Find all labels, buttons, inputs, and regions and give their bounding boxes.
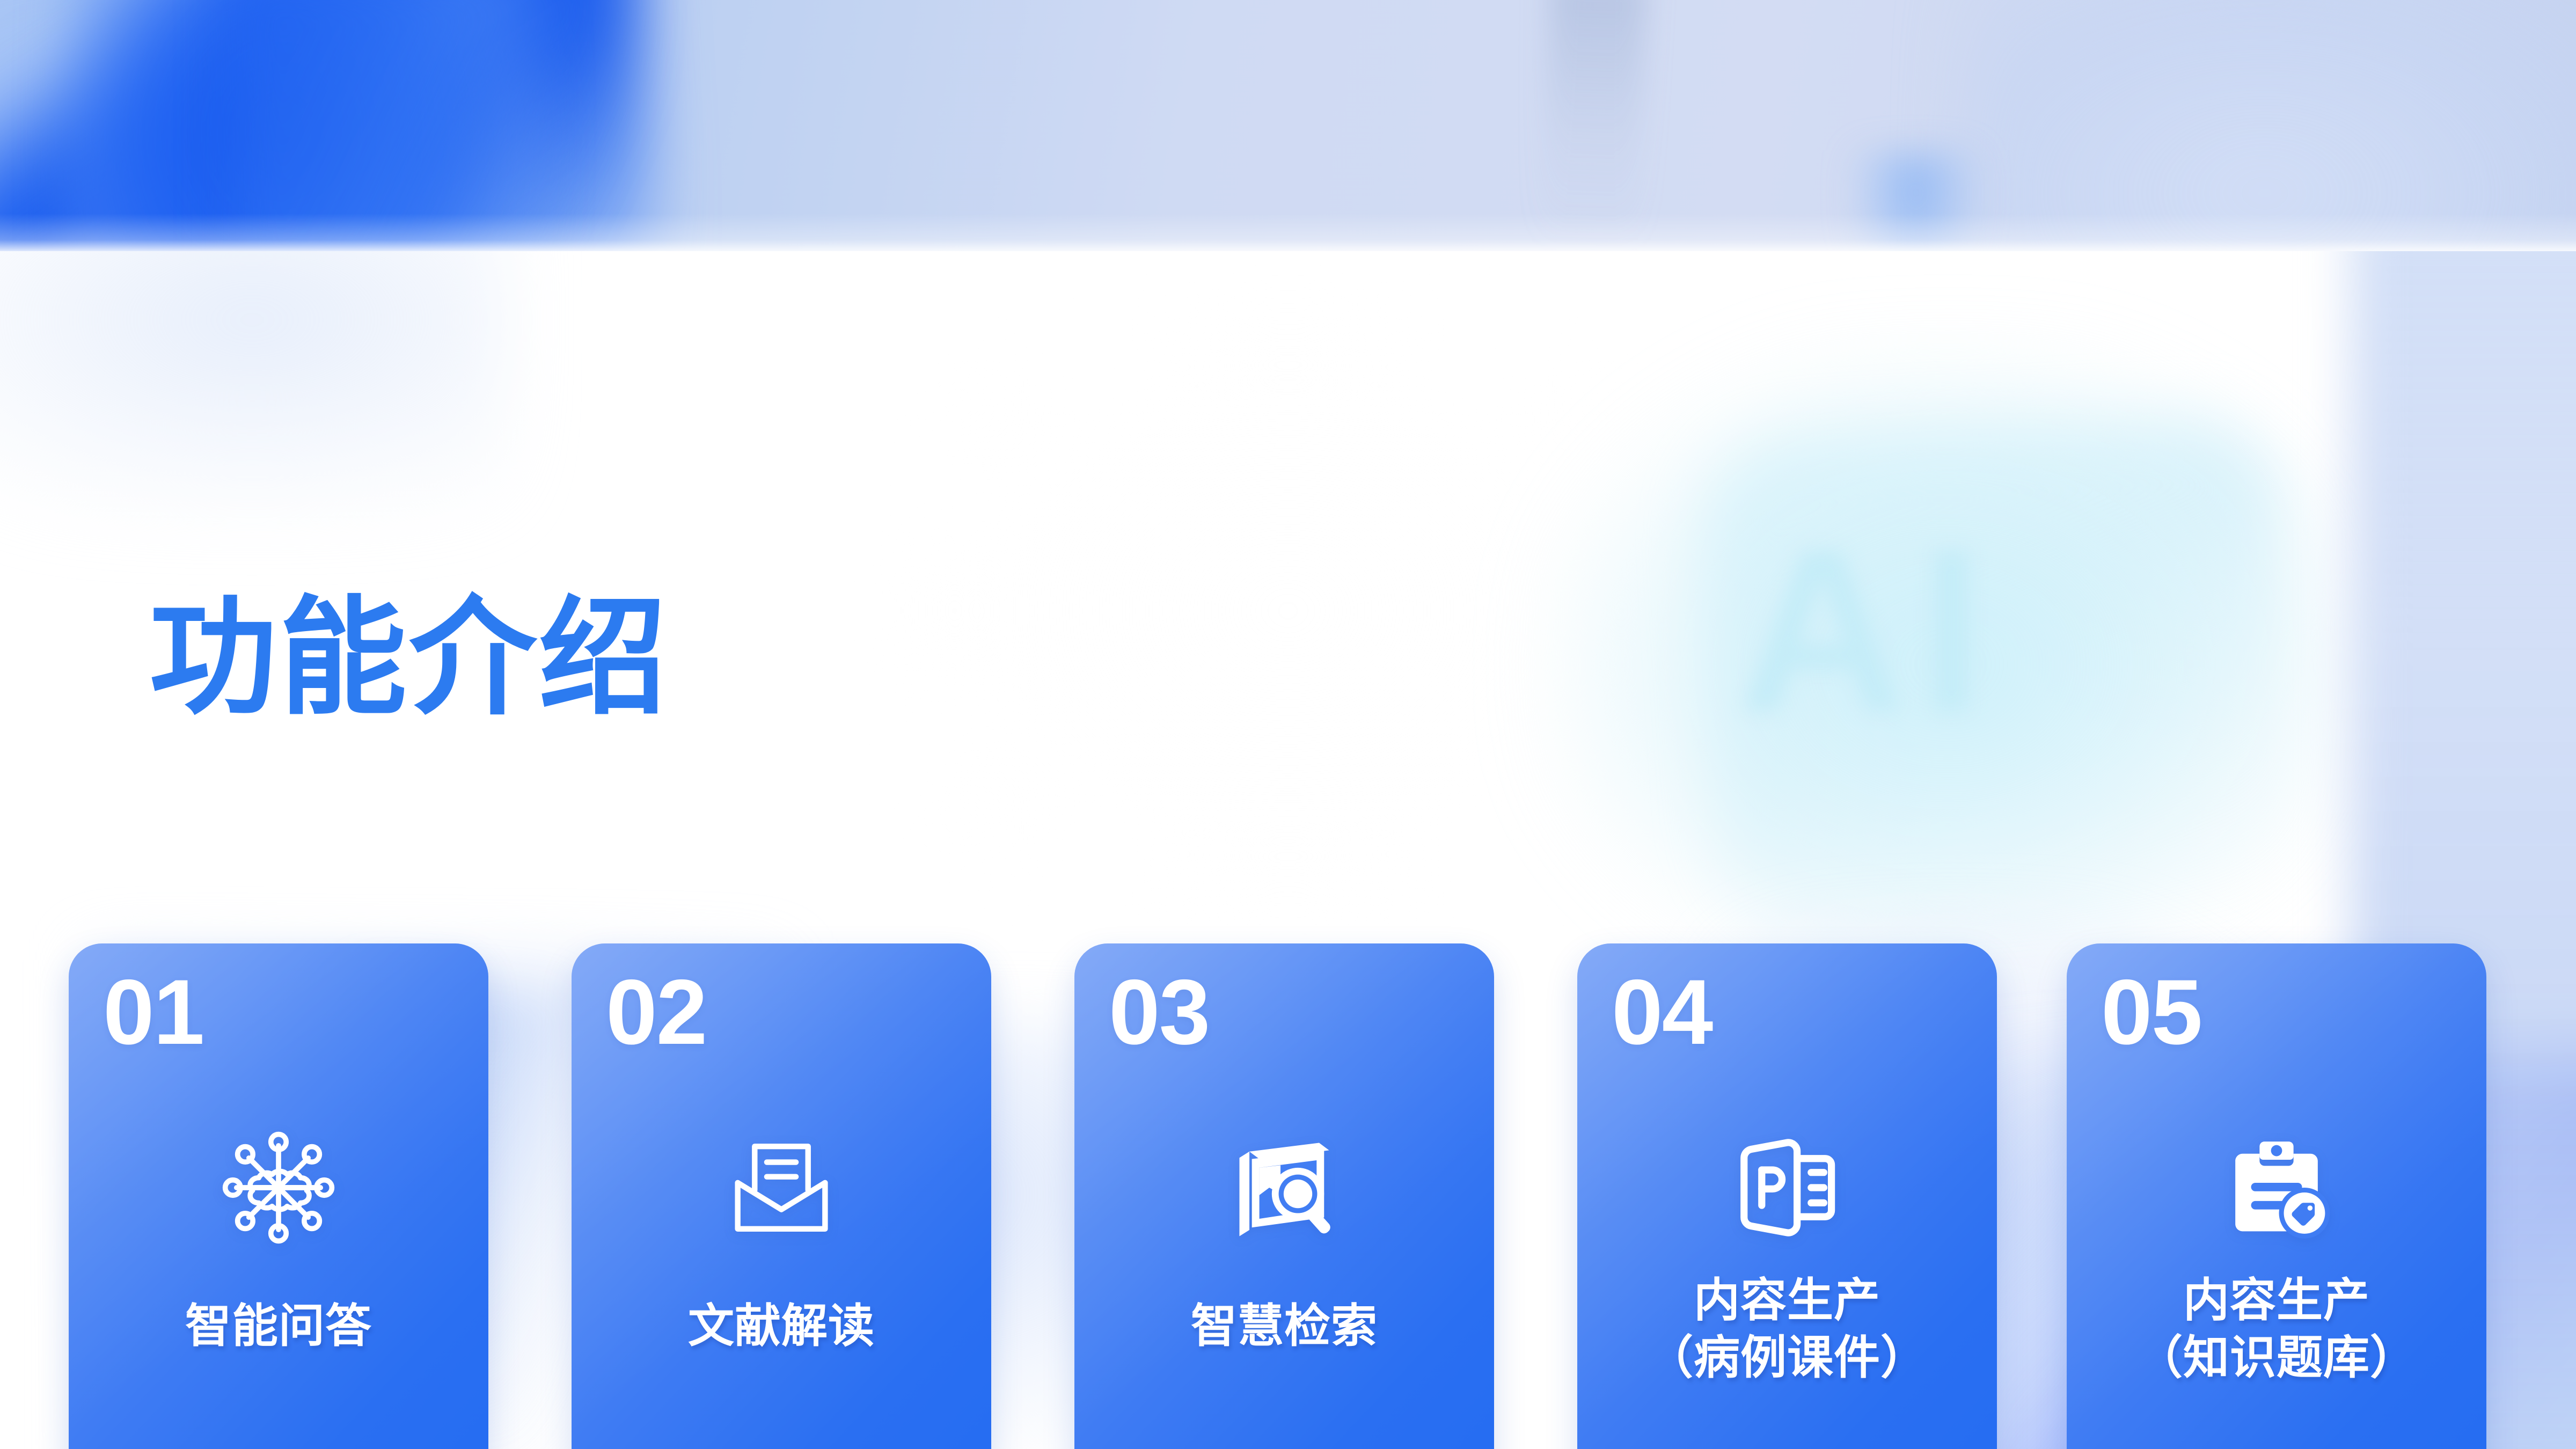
powerpoint-slide-icon <box>1577 1121 1997 1255</box>
card-label: 智慧检索 <box>1074 1298 1494 1355</box>
feature-card-03[interactable]: 03 <box>1074 943 1494 1449</box>
card-label: 智能问答 <box>69 1298 488 1355</box>
card-label-line-1: 内容生产 <box>2183 1275 2370 1326</box>
background-blob-top-left <box>0 251 510 519</box>
clipboard-tag-icon <box>2067 1121 2486 1255</box>
book-magnifier-search-icon <box>1074 1121 1494 1255</box>
feature-card-05[interactable]: 05 <box>2067 943 2486 1449</box>
card-label-line-2: （知识题库） <box>2136 1332 2417 1384</box>
card-label-line-1: 内容生产 <box>1694 1275 1880 1326</box>
ai-watermark-text: AI <box>1739 498 1997 763</box>
open-envelope-document-icon <box>572 1121 991 1255</box>
card-index-number: 02 <box>606 966 706 1058</box>
banner-streak-1 <box>1541 0 1646 248</box>
ai-neural-network-icon <box>69 1121 488 1255</box>
page-title: 功能介绍 <box>149 595 669 722</box>
feature-card-04[interactable]: 04 内容生产 （病例课件） <box>1577 943 1997 1449</box>
card-label-line-2: （病例课件） <box>1647 1332 1927 1384</box>
card-index-number: 03 <box>1109 966 1209 1058</box>
slide-body: AI 功能介绍 01 <box>0 251 2576 1449</box>
card-label: 内容生产 （知识题库） <box>2067 1272 2486 1386</box>
feature-card-row: 01 <box>0 943 2576 1449</box>
background-blob-center-white <box>912 316 1664 906</box>
top-banner-image <box>0 0 2576 251</box>
feature-card-01[interactable]: 01 <box>69 943 488 1449</box>
card-index-number: 04 <box>1612 966 1712 1058</box>
feature-card-02[interactable]: 02 文献解读 <box>572 943 991 1449</box>
card-label: 文献解读 <box>572 1298 991 1355</box>
card-index-number: 05 <box>2101 966 2201 1058</box>
card-index-number: 01 <box>103 966 203 1058</box>
banner-bottom-fade <box>0 214 2576 251</box>
card-label: 内容生产 （病例课件） <box>1577 1272 1997 1386</box>
